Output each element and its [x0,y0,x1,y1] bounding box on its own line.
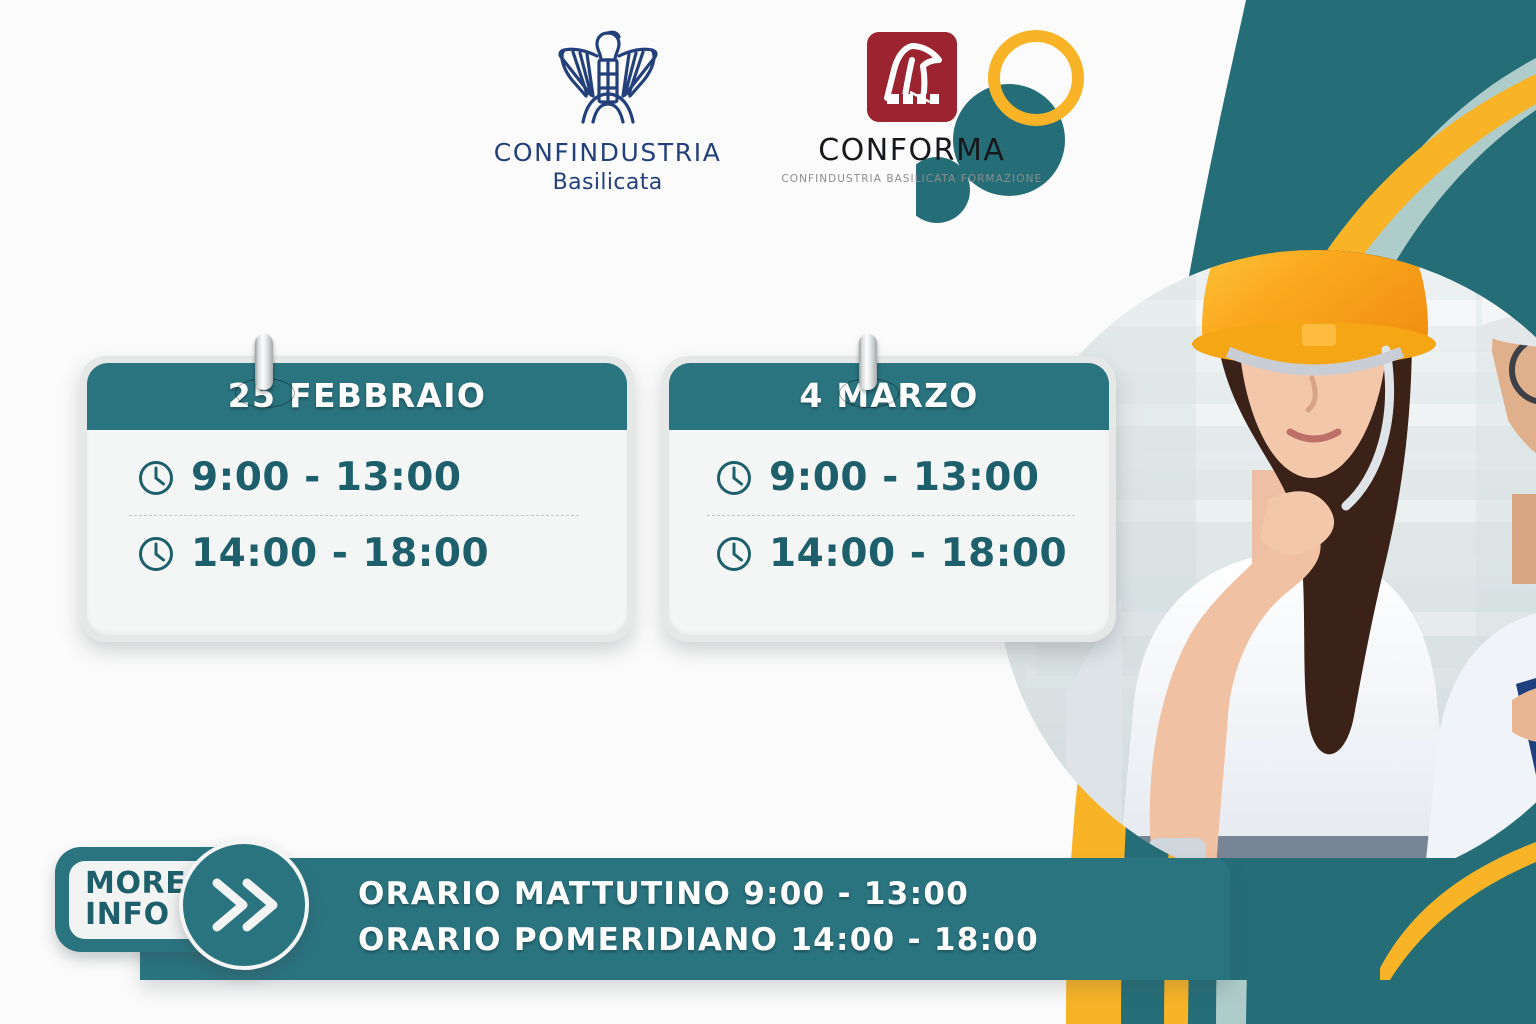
time-slot: 9:00 - 13:00 [87,444,627,511]
clock-icon [715,459,753,497]
date-card-1-title: 25 FEBBRAIO [87,363,627,430]
clock-icon [715,535,753,573]
time-slot-value: 14:00 - 18:00 [769,531,1067,576]
time-slot-value: 9:00 - 13:00 [191,455,462,500]
time-slot: 14:00 - 18:00 [87,520,627,587]
pin-nail-icon-1 [255,334,273,390]
clock-icon [137,459,175,497]
poster-canvas: CONFINDUSTRIA Basilicata [0,0,1536,1024]
more-info-line2: INFO [85,900,170,931]
confindustria-region: Basilicata [553,170,663,195]
date-card-1-inner: 25 FEBBRAIO 9:00 - 13:00 14:00 - 18:00 [87,363,627,635]
slot-divider [707,515,1075,516]
more-info-line1: MORE [85,869,186,900]
eagle-emblem-icon [553,26,663,130]
schedule-bar-text-group: ORARIO MATTUTINO 9:00 - 13:00 ORARIO POM… [358,876,1039,958]
time-slot: 14:00 - 18:00 [669,520,1109,587]
time-slot-value: 14:00 - 18:00 [191,531,489,576]
bottom-right-yellow-arc [1380,840,1536,1024]
date-card-1-slots: 9:00 - 13:00 14:00 - 18:00 [87,430,627,603]
more-info-arrow-circle[interactable] [179,840,309,970]
slot-divider [129,515,579,516]
date-card-2[interactable]: 4 MARZO 9:00 - 13:00 14:00 - 18:00 [662,356,1116,642]
schedule-line-morning: ORARIO MATTUTINO 9:00 - 13:00 [358,876,1039,912]
confindustria-wordmark: CONFINDUSTRIA [494,138,722,167]
date-card-1[interactable]: 25 FEBBRAIO 9:00 - 13:00 14:00 - 18:00 [80,356,634,642]
time-slot-value: 9:00 - 13:00 [769,455,1040,500]
confindustria-logo: CONFINDUSTRIA Basilicata [494,26,722,195]
double-chevron-right-icon [205,875,283,935]
time-slot: 9:00 - 13:00 [669,444,1109,511]
date-card-2-slots: 9:00 - 13:00 14:00 - 18:00 [669,430,1109,603]
more-info-button[interactable]: MORE INFO [55,840,305,962]
pin-nail-icon-2 [859,334,877,390]
clock-icon [137,535,175,573]
schedule-line-afternoon: ORARIO POMERIDIANO 14:00 - 18:00 [358,922,1039,958]
deco-dot-large [953,84,1065,196]
